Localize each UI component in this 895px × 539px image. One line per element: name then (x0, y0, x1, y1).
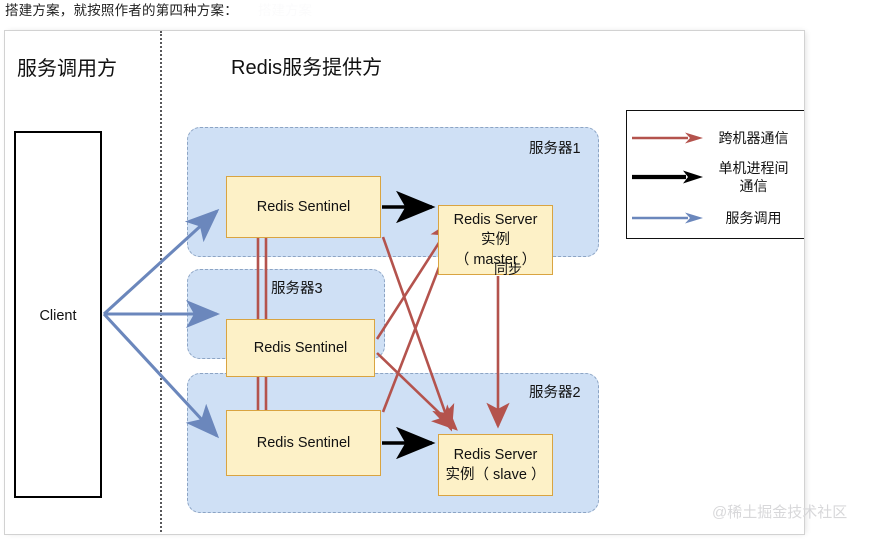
black-arrow-icon (627, 170, 707, 184)
legend-label-cross-machine: 跨机器通信 (707, 129, 804, 147)
lane-title-provider: Redis服务提供方 (231, 55, 382, 81)
node-label-line2: 实例（ slave ） (446, 465, 546, 485)
server-caption-2: 服务器2 (529, 381, 581, 402)
blue-arrow-icon (627, 212, 707, 224)
node-redis-sentinel-1[interactable]: Redis Sentinel (226, 176, 381, 238)
node-label: Redis Sentinel (257, 433, 351, 453)
watermark: @稀土掘金技术社区 (712, 501, 847, 522)
legend-label-line1: 单机进程间 (707, 159, 800, 177)
node-redis-sentinel-2[interactable]: Redis Sentinel (226, 410, 381, 476)
lane-divider (160, 31, 162, 535)
node-redis-server-slave[interactable]: Redis Server 实例（ slave ） (438, 434, 553, 496)
legend-label-line2: 通信 (707, 177, 800, 195)
diagram-canvas: 服务调用方 Redis服务提供方 Client 服务器1 服务器3 服务器2 (4, 30, 805, 535)
red-arrow-icon (627, 132, 707, 144)
caption-ghost-text: 搭建方案 (258, 1, 312, 21)
server-caption-3: 服务器3 (271, 277, 323, 298)
legend-label-intra-machine: 单机进程间 通信 (707, 159, 804, 195)
legend-item-service-call: 服务调用 (627, 203, 804, 233)
node-label-line2: 实例 (454, 230, 538, 250)
server-caption-1: 服务器1 (529, 137, 581, 158)
node-label: Redis Sentinel (254, 338, 348, 358)
client-label: Client (16, 308, 100, 324)
node-label-line1: Redis Server (446, 445, 546, 465)
legend-label-service-call: 服务调用 (707, 209, 804, 227)
node-label-line1: Redis Server (454, 210, 538, 230)
lane-title-caller: 服务调用方 (17, 56, 117, 82)
node-redis-sentinel-3[interactable]: Redis Sentinel (226, 319, 375, 377)
legend-box: 跨机器通信 单机进程间 通信 服务调用 (626, 110, 805, 239)
node-label: Redis Sentinel (257, 197, 351, 217)
client-box[interactable]: Client (14, 131, 102, 498)
sync-edge-label: 同步 (494, 259, 522, 279)
page-caption: 搭建方案，就按照作者的第四种方案： (5, 1, 238, 21)
legend-item-cross-machine: 跨机器通信 (627, 123, 804, 153)
legend-item-intra-machine: 单机进程间 通信 (627, 156, 804, 198)
